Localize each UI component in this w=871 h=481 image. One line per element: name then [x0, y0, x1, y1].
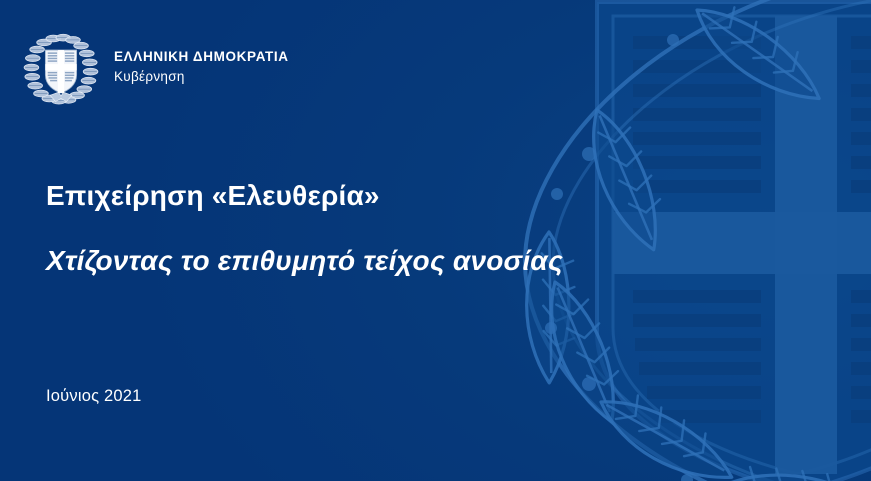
government-logo-lockup: ΕΛΛΗΝΙΚΗ ΔΗΜΟΚΡΑΤΙΑ Κυβέρνηση — [22, 29, 289, 107]
page-title: Επιχείρηση «Ελευθερία» — [46, 178, 563, 213]
organization-name: ΕΛΛΗΝΙΚΗ ΔΗΜΟΚΡΑΤΙΑ — [114, 50, 289, 64]
hellenic-republic-coat-of-arms-icon — [22, 29, 100, 107]
department-name: Κυβέρνηση — [114, 70, 289, 84]
slide-date: Ιούνιος 2021 — [46, 387, 142, 406]
title-slide: ΕΛΛΗΝΙΚΗ ΔΗΜΟΚΡΑΤΙΑ Κυβέρνηση Επιχείρηση… — [0, 0, 871, 481]
title-block: Επιχείρηση «Ελευθερία» Χτίζοντας το επιθ… — [46, 178, 563, 278]
page-subtitle: Χτίζοντας το επιθυμητό τείχος ανοσίας — [46, 243, 563, 278]
logo-text-block: ΕΛΛΗΝΙΚΗ ΔΗΜΟΚΡΑΤΙΑ Κυβέρνηση — [114, 50, 289, 85]
